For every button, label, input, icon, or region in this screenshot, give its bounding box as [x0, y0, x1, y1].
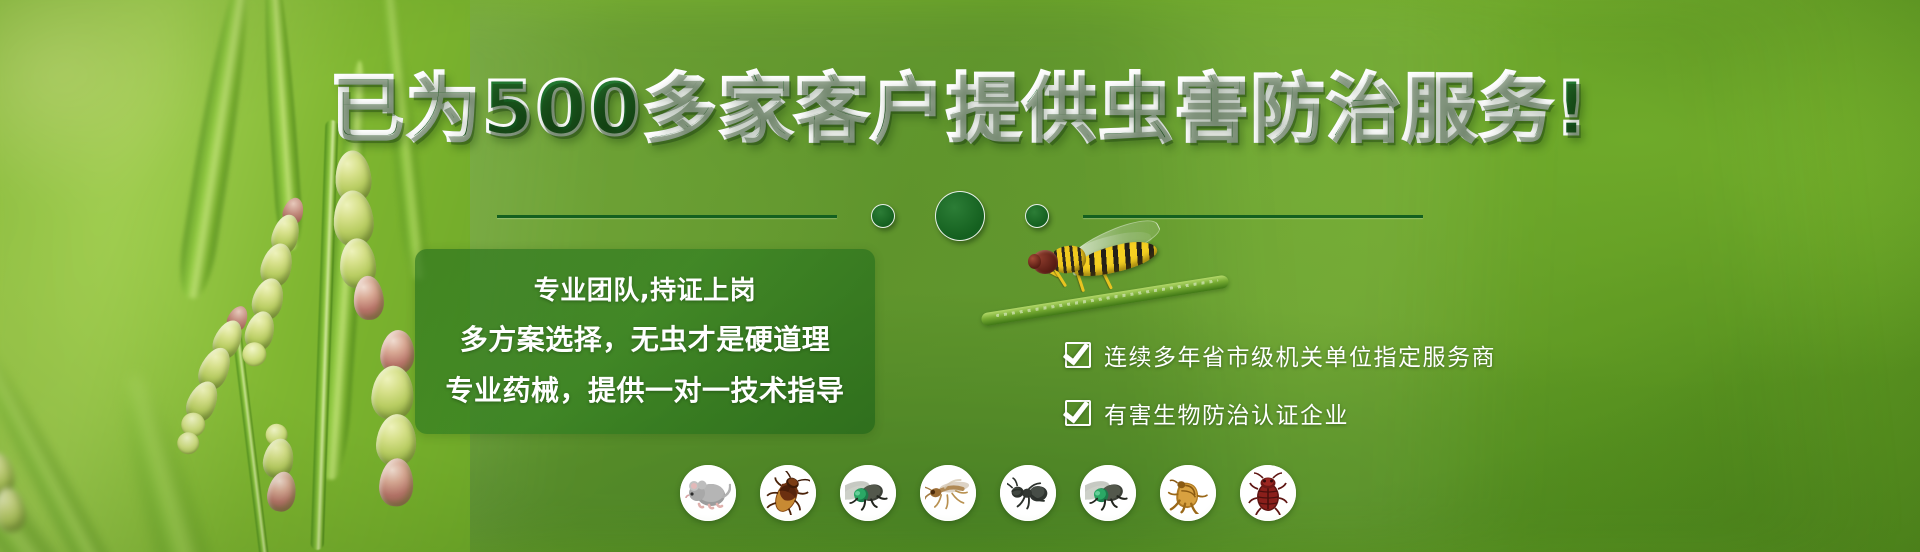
- fly-icon[interactable]: [840, 465, 896, 521]
- page-title-text: 已为500多家客户提供虫害防治服务!: [330, 66, 1590, 152]
- mosquito-icon[interactable]: [920, 465, 976, 521]
- check-square-icon: [1065, 400, 1091, 426]
- hoverfly-illustration: [1020, 232, 1190, 332]
- checklist-label-2: 有害生物防治认证企业: [1104, 396, 1349, 430]
- ant-icon[interactable]: [1000, 465, 1056, 521]
- feature-line-2: 多方案选择，无虫才是硬道理: [460, 318, 831, 358]
- mouse-icon[interactable]: [680, 465, 736, 521]
- page-title: 已为500多家客户提供虫害防治服务!: [0, 72, 1920, 146]
- flea-icon[interactable]: [1160, 465, 1216, 521]
- certifications-checklist: 连续多年省市级机关单位指定服务商 有害生物防治认证企业: [1065, 338, 1496, 454]
- feature-line-1: 专业团队,持证上岗: [534, 270, 756, 307]
- fly-icon-2[interactable]: [1080, 465, 1136, 521]
- bedbug-icon[interactable]: [1240, 465, 1296, 521]
- list-item: 连续多年省市级机关单位指定服务商: [1065, 338, 1496, 372]
- list-item: 有害生物防治认证企业: [1065, 396, 1496, 430]
- check-square-icon: [1065, 342, 1091, 368]
- features-panel: 专业团队,持证上岗 多方案选择，无虫才是硬道理 专业药械，提供一对一技术指导: [415, 249, 875, 434]
- insect-eye: [1028, 254, 1041, 269]
- pest-control-hero-banner: 已为500多家客户提供虫害防治服务! 专业团队,持证上岗 多方案选择，无虫才是硬…: [0, 0, 1920, 552]
- checklist-label-1: 连续多年省市级机关单位指定服务商: [1104, 338, 1496, 372]
- pest-icon-row: [680, 465, 1296, 521]
- feature-line-3: 专业药械，提供一对一技术指导: [445, 369, 844, 409]
- cockroach-icon[interactable]: [760, 465, 816, 521]
